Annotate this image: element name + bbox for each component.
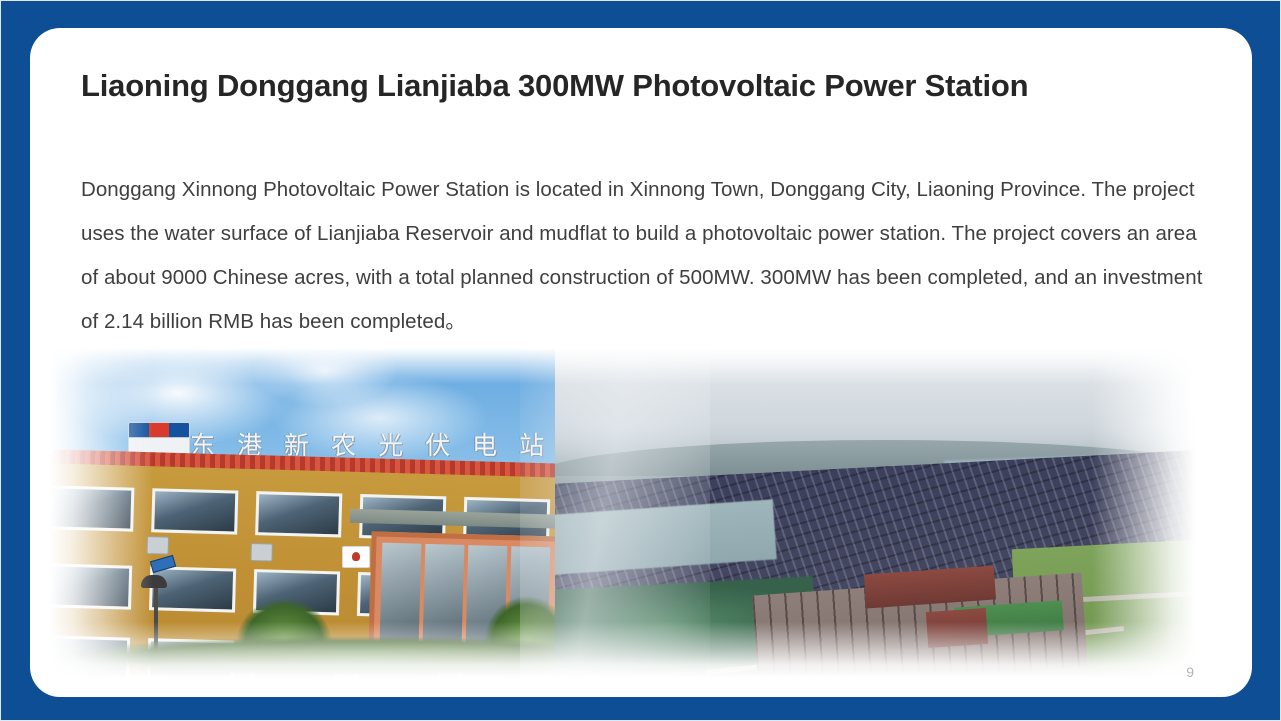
photo-composite: 东 港 新 农 光 伏 电 站 [50, 348, 1195, 678]
body-paragraph: Donggang Xinnong Photovoltaic Power Stat… [81, 168, 1203, 344]
page-number: 9 [1186, 664, 1194, 680]
page-title: Liaoning Donggang Lianjiaba 300MW Photov… [81, 68, 1028, 104]
wall-sign-left [342, 546, 370, 568]
content-card: Liaoning Donggang Lianjiaba 300MW Photov… [30, 28, 1252, 697]
rooftop-char-5: 光 [378, 426, 403, 462]
rooftop-char-8: 站 [519, 426, 544, 462]
rooftop-char-6: 伏 [425, 426, 450, 462]
photo-aerial-solar-farm [555, 348, 1195, 678]
rooftop-char-7: 电 [472, 426, 497, 462]
control-building [926, 608, 988, 648]
slide: Liaoning Donggang Lianjiaba 300MW Photov… [0, 0, 1281, 721]
photo-canvas: 东 港 新 农 光 伏 电 站 [50, 348, 1195, 678]
